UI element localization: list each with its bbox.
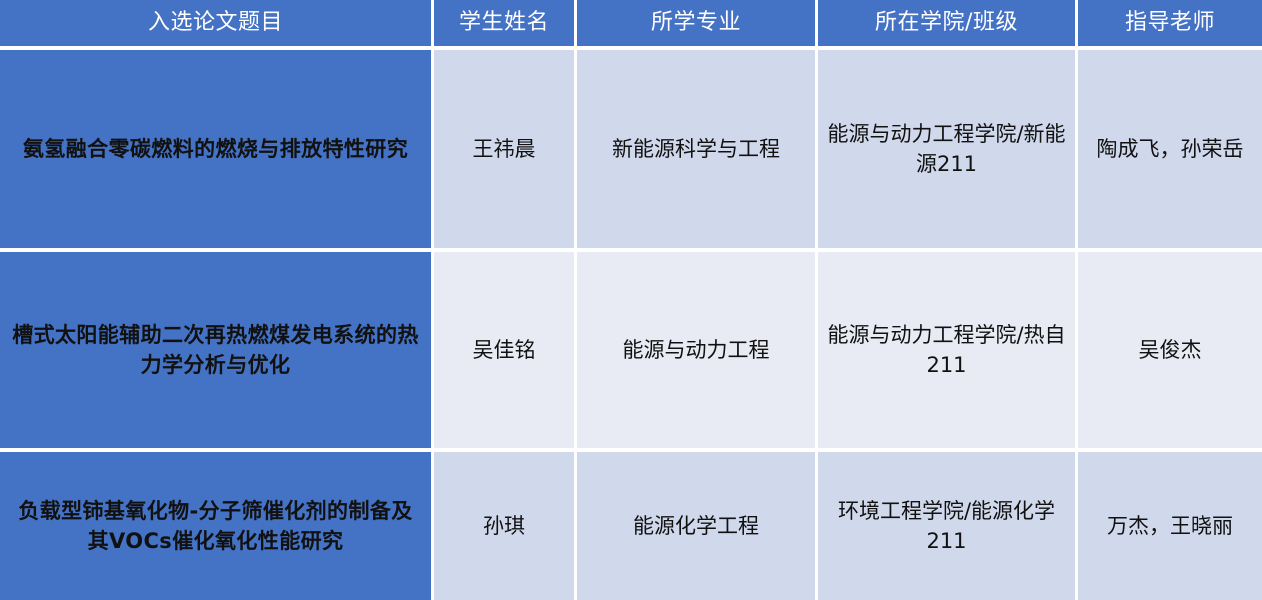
table-row: 槽式太阳能辅助二次再热燃煤发电系统的热力学分析与优化 吴佳铭 能源与动力工程 能… [0, 252, 1262, 452]
cell-college-class: 环境工程学院/能源化学211 [818, 452, 1078, 600]
cell-advisor: 吴俊杰 [1078, 252, 1262, 452]
cell-paper-title: 氨氢融合零碳燃料的燃烧与排放特性研究 [0, 50, 434, 252]
column-header-teacher: 指导老师 [1078, 0, 1262, 50]
column-header-title: 入选论文题目 [0, 0, 434, 50]
cell-paper-title: 负载型铈基氧化物-分子筛催化剂的制备及其VOCs催化氧化性能研究 [0, 452, 434, 600]
cell-advisor: 万杰，王晓丽 [1078, 452, 1262, 600]
cell-college-class: 能源与动力工程学院/热自211 [818, 252, 1078, 452]
selected-papers-table: 入选论文题目 学生姓名 所学专业 所在学院/班级 指导老师 氨氢融合零碳燃料的燃… [0, 0, 1262, 600]
column-header-college: 所在学院/班级 [818, 0, 1078, 50]
cell-paper-title: 槽式太阳能辅助二次再热燃煤发电系统的热力学分析与优化 [0, 252, 434, 452]
table-header: 入选论文题目 学生姓名 所学专业 所在学院/班级 指导老师 [0, 0, 1262, 50]
column-header-name: 学生姓名 [434, 0, 577, 50]
cell-advisor: 陶成飞，孙荣岳 [1078, 50, 1262, 252]
cell-major: 能源化学工程 [577, 452, 818, 600]
cell-major: 新能源科学与工程 [577, 50, 818, 252]
cell-student-name: 孙琪 [434, 452, 577, 600]
cell-student-name: 吴佳铭 [434, 252, 577, 452]
table-body: 氨氢融合零碳燃料的燃烧与排放特性研究 王祎晨 新能源科学与工程 能源与动力工程学… [0, 50, 1262, 600]
table-row: 负载型铈基氧化物-分子筛催化剂的制备及其VOCs催化氧化性能研究 孙琪 能源化学… [0, 452, 1262, 600]
column-header-major: 所学专业 [577, 0, 818, 50]
cell-college-class: 能源与动力工程学院/新能源211 [818, 50, 1078, 252]
cell-major: 能源与动力工程 [577, 252, 818, 452]
cell-student-name: 王祎晨 [434, 50, 577, 252]
table-row: 氨氢融合零碳燃料的燃烧与排放特性研究 王祎晨 新能源科学与工程 能源与动力工程学… [0, 50, 1262, 252]
table-header-row: 入选论文题目 学生姓名 所学专业 所在学院/班级 指导老师 [0, 0, 1262, 50]
